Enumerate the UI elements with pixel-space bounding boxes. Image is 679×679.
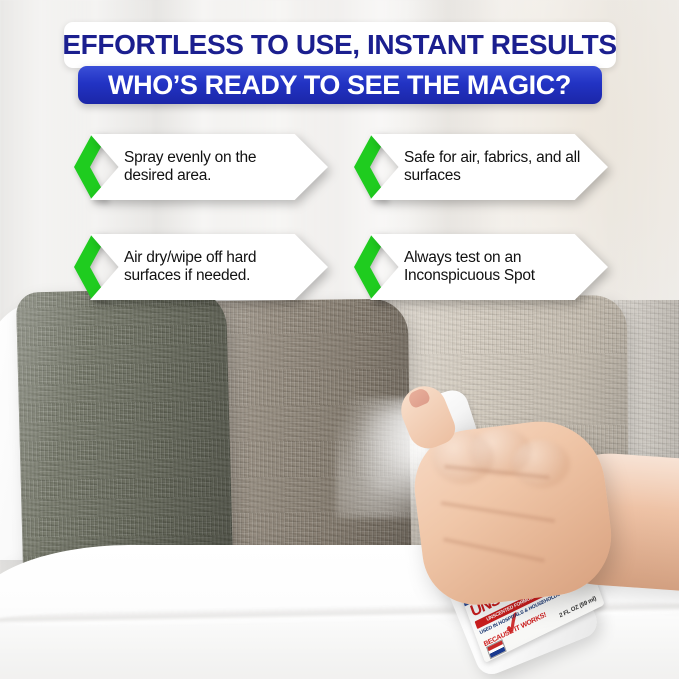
callout-safe-surfaces: Safe for air, fabrics, and all surfaces [348, 128, 610, 206]
headline-primary-text: EFFORTLESS TO USE, INSTANT RESULTS [62, 29, 616, 61]
headline-secondary-text: WHO’S READY TO SEE THE MAGIC? [108, 70, 571, 101]
headline-block: EFFORTLESS TO USE, INSTANT RESULTS WHO’S… [0, 0, 679, 104]
headline-primary-banner: EFFORTLESS TO USE, INSTANT RESULTS [64, 22, 616, 68]
callout-air-dry: Air dry/wipe off hard surfaces if needed… [68, 228, 330, 306]
callout-test-spot: Always test on an Inconspicuous Spot [348, 228, 610, 306]
callout-text: Always test on an Inconspicuous Spot [404, 249, 584, 285]
callout-text: Spray evenly on the desired area. [124, 149, 304, 185]
knuckle [512, 440, 570, 488]
callout-text: Air dry/wipe off hard surfaces if needed… [124, 249, 304, 285]
callout-spray-evenly: Spray evenly on the desired area. [68, 128, 330, 206]
callout-text: Safe for air, fabrics, and all surfaces [404, 149, 584, 185]
product-infographic: REMV UNSCE UNSCENTED FORMULA ✓ USED IN H… [0, 0, 679, 679]
headline-secondary-banner: WHO’S READY TO SEE THE MAGIC? [78, 66, 602, 104]
